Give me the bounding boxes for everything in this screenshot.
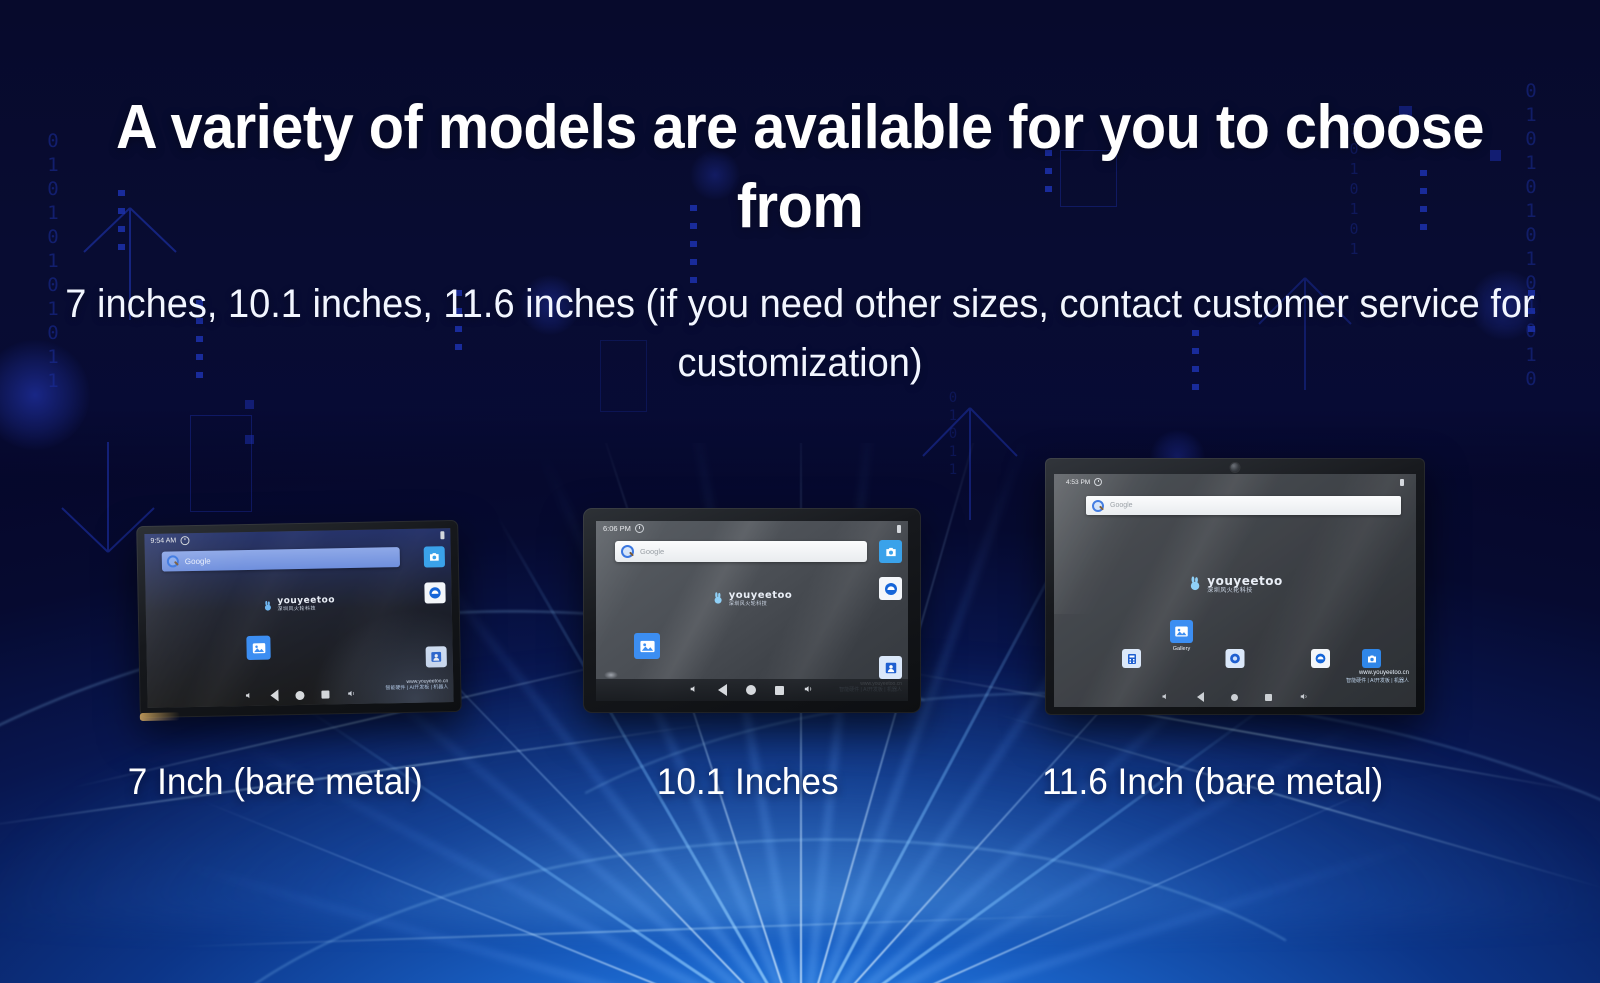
clock-icon <box>180 536 189 545</box>
volume-down-icon[interactable] <box>244 687 253 705</box>
app-contacts[interactable] <box>879 656 902 679</box>
app-camera[interactable] <box>879 540 902 563</box>
clock-icon <box>635 524 644 533</box>
gallery-icon <box>1170 620 1193 643</box>
contacts-icon <box>879 656 902 679</box>
search-input[interactable]: Google <box>615 541 867 562</box>
camera-icon <box>879 540 902 563</box>
search-icon <box>167 555 179 567</box>
logo-subtext: 深圳风火轮科技 <box>1207 588 1282 594</box>
app-cloud[interactable] <box>1311 649 1330 668</box>
page-subtitle: 7 inches, 10.1 inches, 11.6 inches (if y… <box>40 275 1560 393</box>
status-bar: 6:06 PM <box>596 521 908 536</box>
volume-down-icon[interactable] <box>689 681 699 699</box>
back-icon[interactable] <box>718 684 727 696</box>
search-placeholder: Google <box>1110 502 1133 509</box>
volume-up-icon[interactable] <box>1299 688 1310 706</box>
search-icon <box>621 545 634 558</box>
app-contacts[interactable] <box>426 646 447 667</box>
promo-banner: 01010101011 0101010101010 1010101 01011 … <box>0 0 1600 983</box>
home-icon[interactable] <box>1231 694 1238 701</box>
brand-logo: youyeetoo 深圳风火轮科技 <box>712 591 793 607</box>
settings-icon <box>1226 649 1245 668</box>
camera-icon <box>424 546 445 567</box>
status-clock: 6:06 PM <box>603 524 631 533</box>
volume-up-icon[interactable] <box>346 685 357 703</box>
brand-logo: youyeetoo 深圳风火轮科技 <box>1187 575 1282 594</box>
recents-icon[interactable] <box>775 686 784 695</box>
product-tablet-7-inch[interactable]: 9:54 AM Google <box>136 520 462 718</box>
front-camera-icon <box>1231 463 1240 472</box>
app-label: Gallery <box>1173 646 1190 652</box>
search-icon <box>1092 500 1104 512</box>
gallery-icon <box>634 633 660 659</box>
volume-down-icon[interactable] <box>1161 688 1170 706</box>
page-title: A variety of models are available for yo… <box>56 88 1544 247</box>
search-placeholder: Google <box>640 547 664 556</box>
cloud-icon <box>879 577 902 600</box>
camera-icon <box>1362 649 1381 668</box>
gallery-icon <box>246 636 270 660</box>
product-tablet-10-1-inch[interactable]: 6:06 PM Google <box>583 508 921 713</box>
calculator-icon <box>1122 649 1141 668</box>
app-calculator[interactable] <box>1122 649 1141 668</box>
home-icon[interactable] <box>746 685 756 695</box>
home-icon[interactable] <box>295 690 304 699</box>
app-settings[interactable] <box>1226 649 1245 668</box>
rabbit-logo-icon <box>712 592 726 606</box>
logo-subtext: 深圳风火轮科技 <box>729 602 793 607</box>
cloud-icon <box>1311 649 1330 668</box>
recents-icon[interactable] <box>1265 694 1272 701</box>
rabbit-logo-icon <box>262 599 274 611</box>
chip-decor <box>245 400 254 409</box>
back-icon[interactable] <box>270 689 278 701</box>
navigation-bar[interactable] <box>1054 687 1416 707</box>
contacts-icon <box>426 646 447 667</box>
rabbit-logo-icon <box>1187 576 1204 593</box>
search-input[interactable]: Google <box>1086 496 1401 515</box>
search-placeholder: Google <box>185 556 211 565</box>
caption-10-1-inch: 10.1 Inches <box>657 761 839 803</box>
app-cloud[interactable] <box>424 582 445 603</box>
logo-wordmark: youyeetoo <box>1207 575 1282 587</box>
clock-icon <box>1094 478 1102 486</box>
watermark-tags: 智能硬件 | AI开发板 | 机器人 <box>1346 678 1409 684</box>
status-clock: 4:53 PM <box>1066 479 1090 486</box>
screen-watermark: www.youyeetoo.cn 智能硬件 | AI开发板 | 机器人 <box>1346 670 1409 684</box>
app-gallery[interactable]: Gallery <box>1170 620 1193 652</box>
volume-up-icon[interactable] <box>803 681 815 699</box>
watermark-url: www.youyeetoo.cn <box>1346 670 1409 678</box>
app-camera[interactable] <box>424 546 445 567</box>
app-gallery[interactable] <box>246 636 270 660</box>
status-clock: 9:54 AM <box>150 537 176 544</box>
caption-7-inch: 7 Inch (bare metal) <box>128 761 423 803</box>
battery-icon <box>897 525 901 533</box>
app-gallery[interactable] <box>634 633 660 659</box>
logo-wordmark: youyeetoo <box>729 591 793 601</box>
app-cloud[interactable] <box>879 577 902 600</box>
status-bar: 4:53 PM <box>1054 474 1416 490</box>
product-tablet-11-6-inch[interactable]: 4:53 PM Google <box>1045 458 1425 715</box>
back-icon[interactable] <box>1197 692 1204 702</box>
recents-icon[interactable] <box>321 690 329 698</box>
battery-icon <box>1400 479 1404 486</box>
brand-logo: youyeetoo 深圳风火轮科技 <box>262 596 335 612</box>
caption-11-6-inch: 11.6 Inch (bare metal) <box>1042 761 1383 803</box>
app-camera[interactable] <box>1362 649 1381 668</box>
navigation-bar[interactable] <box>596 679 908 701</box>
cloud-icon <box>424 582 445 603</box>
battery-icon <box>440 531 444 539</box>
